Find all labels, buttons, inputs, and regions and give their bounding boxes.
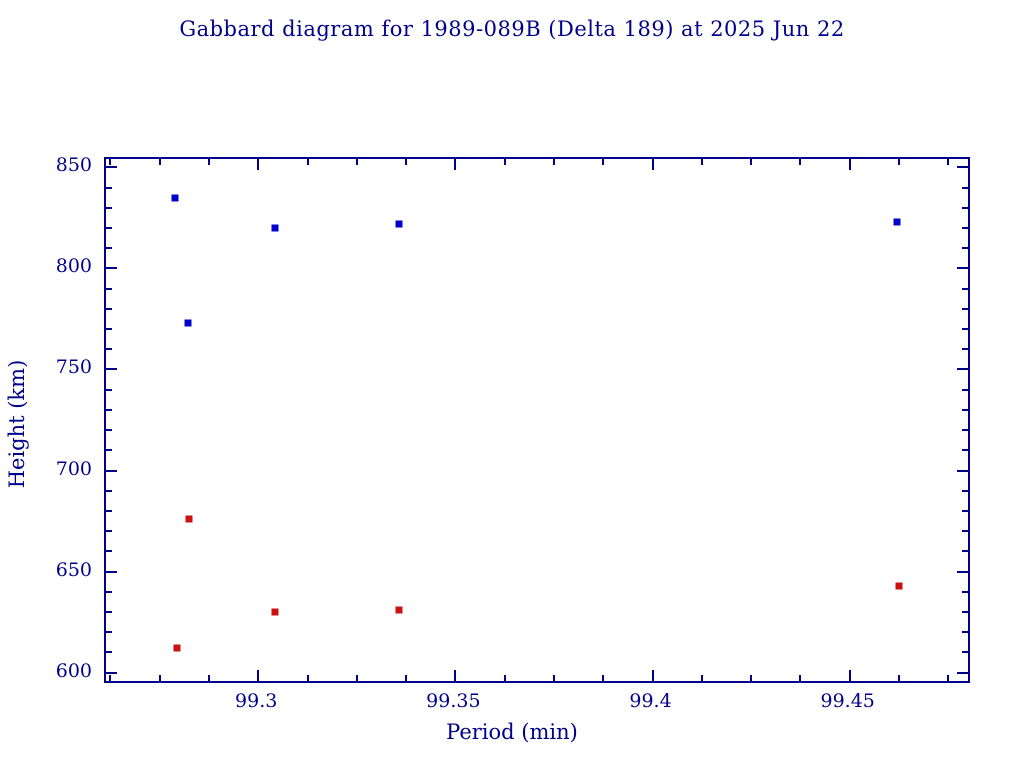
y-tick-right-minor (962, 591, 968, 593)
y-tick-left-minor (106, 510, 112, 512)
y-tick-right-major (957, 267, 968, 269)
y-tick-left-minor (106, 389, 112, 391)
y-tick-left-minor (106, 348, 112, 350)
y-tick-left-major (106, 166, 117, 168)
x-tick-top-minor (504, 159, 506, 165)
data-point-perigee (174, 645, 181, 652)
y-tick-left-minor (106, 449, 112, 451)
x-tick-top-minor (356, 159, 358, 165)
x-tick-top-minor (405, 159, 407, 165)
y-tick-right-major (957, 166, 968, 168)
y-tick-label: 750 (56, 356, 92, 378)
y-tick-left-minor (106, 328, 112, 330)
x-tick-top-minor (701, 159, 703, 165)
y-tick-label: 600 (56, 660, 92, 682)
x-tick-bottom-minor (159, 675, 161, 681)
y-tick-left-minor (106, 288, 112, 290)
y-tick-left-minor (106, 490, 112, 492)
x-tick-bottom-minor (701, 675, 703, 681)
y-tick-right-minor (962, 550, 968, 552)
y-tick-left-minor (106, 409, 112, 411)
x-tick-label: 99.3 (235, 690, 277, 712)
data-point-perigee (896, 582, 903, 589)
x-tick-top-minor (898, 159, 900, 165)
x-tick-top-minor (553, 159, 555, 165)
y-tick-right-minor (962, 490, 968, 492)
y-tick-right-minor (962, 308, 968, 310)
y-tick-label: 650 (56, 559, 92, 581)
x-tick-top-minor (602, 159, 604, 165)
y-tick-right-minor (962, 328, 968, 330)
x-tick-top-minor (799, 159, 801, 165)
y-tick-right-minor (962, 530, 968, 532)
y-tick-right-minor (962, 631, 968, 633)
y-tick-left-minor (106, 591, 112, 593)
x-tick-bottom-minor (553, 675, 555, 681)
x-tick-bottom-minor (799, 675, 801, 681)
y-tick-right-minor (962, 207, 968, 209)
y-tick-right-minor (962, 429, 968, 431)
plot-area (106, 159, 968, 681)
x-tick-bottom-minor (109, 675, 111, 681)
x-tick-label: 99.4 (629, 690, 671, 712)
x-tick-bottom-minor (504, 675, 506, 681)
y-tick-left-major (106, 368, 117, 370)
y-tick-left-minor (106, 207, 112, 209)
y-tick-left-minor (106, 227, 112, 229)
y-tick-left-major (106, 672, 117, 674)
data-point-perigee (272, 609, 279, 616)
x-axis-tick-labels: 99.399.3599.499.45 (104, 690, 970, 718)
y-tick-left-major (106, 470, 117, 472)
y-tick-left-major (106, 571, 117, 573)
y-tick-right-minor (962, 187, 968, 189)
y-tick-label: 850 (56, 154, 92, 176)
x-tick-bottom-minor (208, 675, 210, 681)
y-tick-left-minor (106, 247, 112, 249)
x-tick-top-major (849, 159, 851, 170)
y-tick-left-minor (106, 187, 112, 189)
data-point-apogee (172, 194, 179, 201)
x-tick-bottom-minor (356, 675, 358, 681)
y-tick-left-minor (106, 631, 112, 633)
y-tick-left-minor (106, 429, 112, 431)
x-tick-bottom-major (257, 670, 259, 681)
x-tick-bottom-major (454, 670, 456, 681)
x-tick-label: 99.35 (426, 690, 480, 712)
y-tick-right-minor (962, 449, 968, 451)
y-tick-right-minor (962, 651, 968, 653)
x-tick-label: 99.45 (820, 690, 874, 712)
plot-frame (104, 157, 970, 683)
x-tick-top-major (454, 159, 456, 170)
chart-title: Gabbard diagram for 1989-089B (Delta 189… (0, 17, 1024, 41)
y-tick-right-major (957, 672, 968, 674)
data-point-apogee (894, 218, 901, 225)
y-tick-left-major (106, 267, 117, 269)
y-tick-right-minor (962, 247, 968, 249)
y-tick-right-major (957, 368, 968, 370)
x-tick-bottom-minor (405, 675, 407, 681)
x-tick-bottom-minor (750, 675, 752, 681)
y-tick-left-minor (106, 651, 112, 653)
gabbard-diagram-page: Gabbard diagram for 1989-089B (Delta 189… (0, 0, 1024, 768)
x-tick-bottom-major (849, 670, 851, 681)
y-tick-left-minor (106, 308, 112, 310)
y-tick-label: 700 (56, 458, 92, 480)
data-point-apogee (395, 220, 402, 227)
x-tick-top-minor (159, 159, 161, 165)
x-tick-top-minor (947, 159, 949, 165)
y-tick-right-major (957, 571, 968, 573)
x-tick-top-minor (208, 159, 210, 165)
y-tick-right-minor (962, 227, 968, 229)
x-tick-top-minor (307, 159, 309, 165)
data-point-apogee (272, 224, 279, 231)
y-tick-left-minor (106, 530, 112, 532)
x-tick-bottom-minor (947, 675, 949, 681)
y-tick-right-minor (962, 288, 968, 290)
y-tick-right-minor (962, 389, 968, 391)
data-point-perigee (395, 607, 402, 614)
y-tick-right-major (957, 470, 968, 472)
data-point-perigee (186, 516, 193, 523)
y-tick-right-minor (962, 510, 968, 512)
x-tick-top-major (257, 159, 259, 170)
y-tick-left-minor (106, 611, 112, 613)
y-tick-right-minor (962, 348, 968, 350)
x-tick-top-minor (109, 159, 111, 165)
x-tick-bottom-minor (602, 675, 604, 681)
x-tick-bottom-minor (898, 675, 900, 681)
data-point-apogee (185, 319, 192, 326)
y-tick-right-minor (962, 611, 968, 613)
x-axis-title: Period (min) (0, 720, 1024, 744)
y-tick-right-minor (962, 409, 968, 411)
y-tick-label: 800 (56, 255, 92, 277)
y-axis-tick-labels: 600650700750800850 (40, 157, 92, 683)
x-tick-bottom-minor (307, 675, 309, 681)
x-tick-bottom-major (652, 670, 654, 681)
y-tick-left-minor (106, 550, 112, 552)
x-tick-top-major (652, 159, 654, 170)
x-tick-top-minor (750, 159, 752, 165)
y-axis-title: Height (km) (5, 324, 29, 524)
